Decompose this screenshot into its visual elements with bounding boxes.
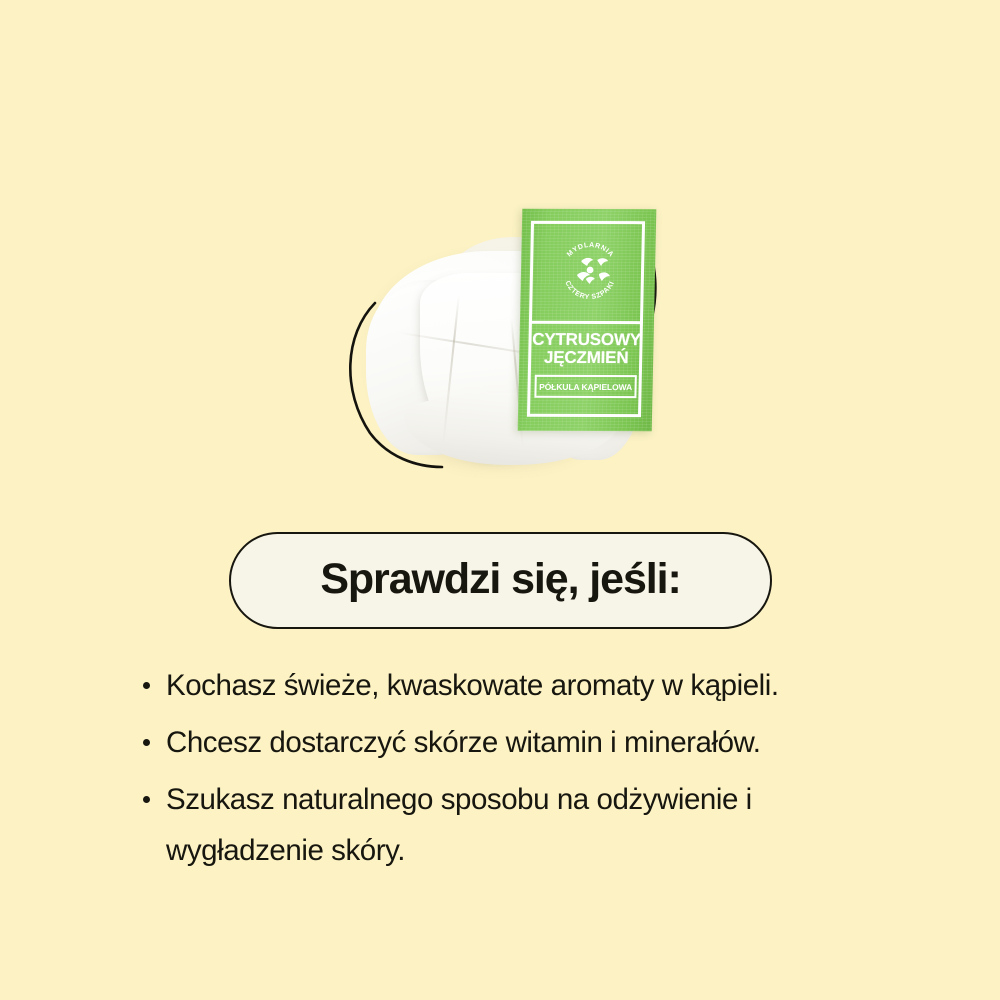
- label-subtype: PÓŁKULA KĄPIELOWA: [534, 375, 636, 398]
- bullet-dot-icon: [143, 739, 150, 746]
- label-name-line2: JĘCZMIEŃ: [531, 349, 641, 367]
- list-item: Kochasz świeże, kwaskowate aromaty w kąp…: [140, 660, 930, 711]
- promo-card: MYDLARNIA CZTERY SZPAKI CY: [0, 0, 1000, 1000]
- label-divider: [529, 321, 643, 324]
- photo-stage: MYDLARNIA CZTERY SZPAKI CY: [330, 195, 675, 480]
- label-product-name: CYTRUSOWY JĘCZMIEŃ: [531, 331, 642, 367]
- svg-text:MYDLARNIA: MYDLARNIA: [566, 242, 615, 259]
- bullet-dot-icon: [143, 796, 150, 803]
- brand-emblem-icon: MYDLARNIA CZTERY SZPAKI: [554, 233, 626, 307]
- label-name-line1: CYTRUSOWY: [532, 330, 641, 349]
- benefits-list: Kochasz świeże, kwaskowate aromaty w kąp…: [140, 660, 930, 882]
- page-title: Sprawdzi się, jeśli:: [320, 558, 680, 601]
- list-item-text: Chcesz dostarczyć skórze witamin i miner…: [166, 717, 930, 768]
- product-label: MYDLARNIA CZTERY SZPAKI CY: [518, 209, 657, 431]
- list-item-text: Kochasz świeże, kwaskowate aromaty w kąp…: [166, 660, 806, 711]
- list-item-text: Szukasz naturalnego sposobu na odżywieni…: [166, 774, 906, 876]
- bullet-dot-icon: [143, 682, 150, 689]
- product-photo: MYDLARNIA CZTERY SZPAKI CY: [330, 195, 675, 480]
- heading-pill: Sprawdzi się, jeśli:: [229, 532, 772, 629]
- list-item: Chcesz dostarczyć skórze witamin i miner…: [140, 717, 930, 768]
- list-item: Szukasz naturalnego sposobu na odżywieni…: [140, 774, 930, 876]
